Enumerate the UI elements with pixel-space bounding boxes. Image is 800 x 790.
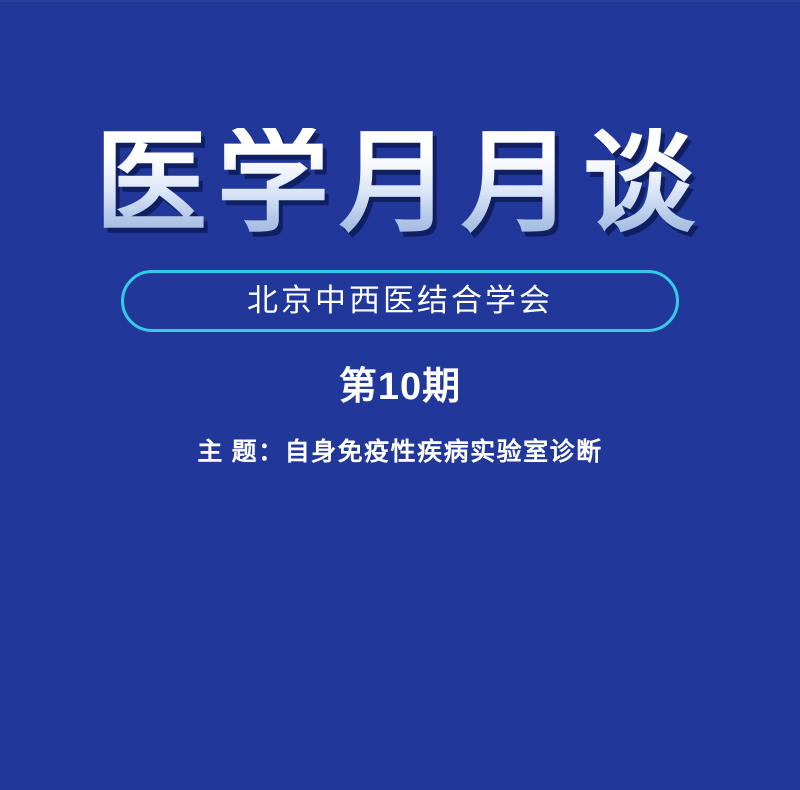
topic-line: 主 题：自身免疫性疾病实验室诊断 [0, 440, 800, 465]
masthead-title-text: 医学月月谈 [95, 128, 705, 240]
issue-number: 第10期 [0, 368, 800, 406]
topic-line-text: 主 题：自身免疫性疾病实验室诊断 [197, 439, 602, 466]
poster-canvas: 医学月月谈 北京中西医结合学会 第10期 主 题：自身免疫性疾病实验室诊断 [0, 0, 800, 790]
lower-blank-area [0, 485, 800, 790]
issue-number-text: 第10期 [339, 366, 461, 408]
organization-capsule: 北京中西医结合学会 [121, 270, 679, 332]
masthead-title: 医学月月谈 [0, 128, 800, 240]
organization-name: 北京中西医结合学会 [247, 285, 553, 318]
top-edge-band [0, 0, 800, 2]
